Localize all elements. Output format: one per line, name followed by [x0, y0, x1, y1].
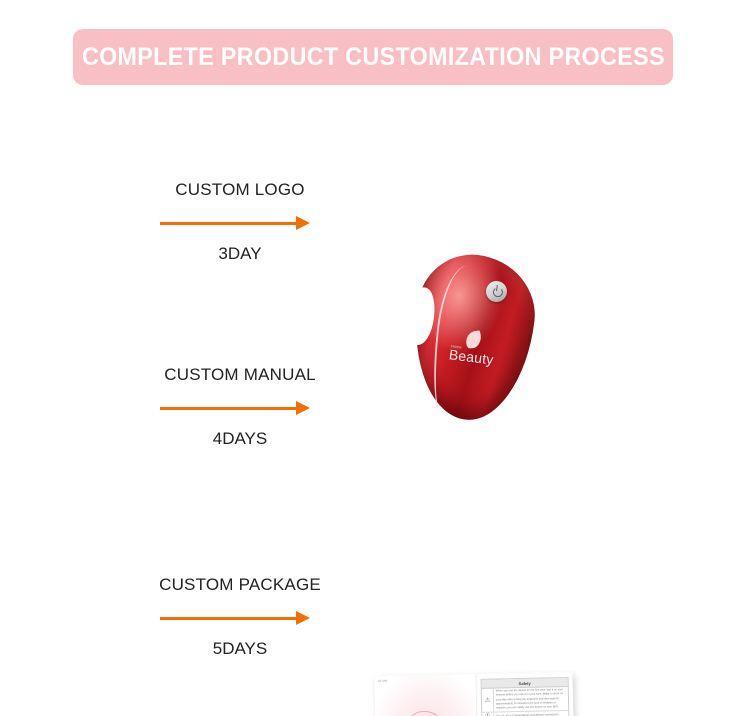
step-duration-custom-logo: 3DAY — [140, 244, 340, 264]
step-label-block-2: CUSTOM MANUAL 4DAYS — [140, 365, 340, 449]
arrow-head-1 — [296, 216, 310, 230]
arrow-right-icon-3 — [160, 609, 320, 629]
step-label-block-1: CUSTOM LOGO 3DAY — [140, 180, 340, 264]
safety-row-text: Do not use it if metal allergy and aller… — [494, 711, 568, 716]
arrow-head-2 — [296, 401, 310, 415]
process-step-row-custom-manual: CUSTOM MANUAL 4DAYS GT MH Heating scrapi… — [0, 330, 750, 505]
page-title: COMPLETE PRODUCT CUSTOMIZATION PROCESS — [82, 43, 665, 72]
step-label-block-3: CUSTOM PACKAGE 5DAYS — [140, 575, 340, 659]
arrow-right-icon-2 — [160, 399, 320, 419]
arrow-head-3 — [296, 611, 310, 625]
arrow-right-icon-1 — [160, 214, 320, 234]
manual-device-illustration — [408, 711, 443, 716]
step-title-custom-manual: CUSTOM MANUAL — [140, 365, 340, 385]
process-step-row-custom-logo: CUSTOM LOGO 3DAY Beauty Home — [0, 120, 750, 320]
arrow-line-3 — [160, 617, 300, 620]
arrow-line-2 — [160, 407, 300, 410]
page-header-banner: COMPLETE PRODUCT CUSTOMIZATION PROCESS — [73, 29, 673, 85]
step-title-custom-package: CUSTOM PACKAGE — [140, 575, 340, 595]
arrow-line-1 — [160, 222, 300, 225]
step-title-custom-logo: CUSTOM LOGO — [140, 180, 340, 200]
step-duration-custom-package: 5DAYS — [140, 639, 340, 659]
step-duration-custom-manual: 4DAYS — [140, 429, 340, 449]
process-step-row-custom-package: CUSTOM PACKAGE 5DAYS drMnova beauty Up — [0, 525, 750, 695]
product-customization-infographic: COMPLETE PRODUCT CUSTOMIZATION PROCESS C… — [0, 0, 750, 716]
safety-table-row: ① Do not use it if metal allergy and all… — [482, 711, 568, 716]
